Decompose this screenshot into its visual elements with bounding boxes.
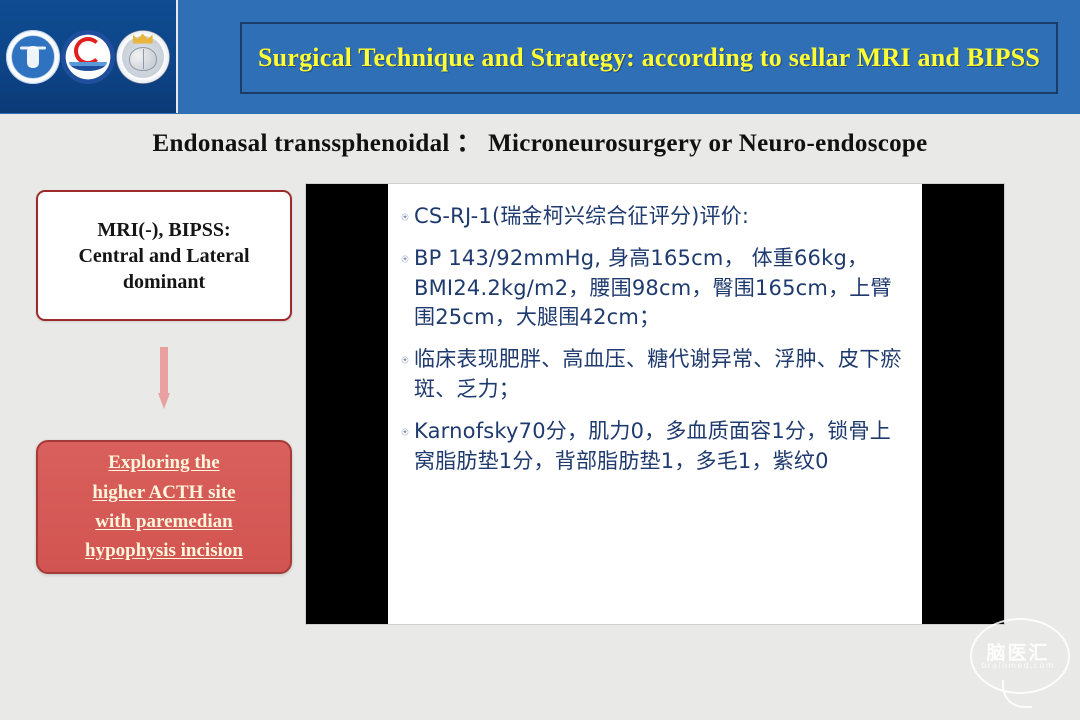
action-line-4: hypophysis incision bbox=[85, 536, 243, 565]
action-box: Exploring the higher ACTH site with pare… bbox=[36, 440, 292, 574]
arrow-shaft bbox=[160, 347, 168, 395]
brain-shape bbox=[129, 47, 157, 71]
action-line-1: Exploring the bbox=[85, 448, 243, 477]
bullet-text: 临床表现肥胖、高血压、糖代谢异常、浮肿、皮下瘀斑、乏力； bbox=[414, 345, 912, 405]
list-item: ⍟ BP 143/92mmHg, 身高165cm， 体重66kg，BMI24.2… bbox=[396, 244, 912, 333]
list-item: ⍟ Karnofsky70分，肌力0，多血质面容1分，锁骨上窝脂肪垫1分，背部脂… bbox=[396, 417, 912, 477]
logo-panel bbox=[0, 0, 178, 113]
embedded-slide-content: ⍟ CS-RJ-1(瑞金柯兴综合征评分)评价: ⍟ BP 143/92mmHg,… bbox=[388, 184, 922, 624]
bullet-marker-icon: ⍟ bbox=[396, 354, 414, 366]
action-box-text: Exploring the higher ACTH site with pare… bbox=[85, 448, 243, 566]
brain-crown-seal-icon bbox=[116, 30, 170, 84]
watermark-main-text: 脑医汇 bbox=[966, 638, 1070, 665]
finding-line-1: MRI(-), BIPSS: bbox=[78, 217, 249, 243]
crown-shape bbox=[133, 34, 153, 44]
list-item: ⍟ 临床表现肥胖、高血压、糖代谢异常、浮肿、皮下瘀斑、乏力； bbox=[396, 345, 912, 405]
bullet-text: Karnofsky70分，肌力0，多血质面容1分，锁骨上窝脂肪垫1分，背部脂肪垫… bbox=[414, 417, 912, 477]
wave-shape bbox=[69, 62, 107, 71]
embedded-slide-panel: ⍟ CS-RJ-1(瑞金柯兴综合征评分)评价: ⍟ BP 143/92mmHg,… bbox=[306, 184, 1004, 624]
bullet-list: ⍟ CS-RJ-1(瑞金柯兴综合征评分)评价: ⍟ BP 143/92mmHg,… bbox=[396, 202, 912, 477]
bullet-marker-icon: ⍟ bbox=[396, 253, 414, 265]
finding-line-2: Central and Lateral bbox=[78, 243, 249, 269]
bullet-text: BP 143/92mmHg, 身高165cm， 体重66kg，BMI24.2kg… bbox=[414, 244, 912, 333]
ruijin-hospital-seal-icon bbox=[6, 30, 60, 84]
arrow-head bbox=[158, 393, 170, 409]
down-arrow-icon bbox=[157, 347, 171, 411]
speech-bubble-tail bbox=[1002, 680, 1032, 708]
speech-bubble-icon bbox=[970, 618, 1070, 694]
seal-ring bbox=[11, 35, 55, 79]
finding-line-3: dominant bbox=[78, 269, 249, 295]
list-item: ⍟ CS-RJ-1(瑞金柯兴综合征评分)评价: bbox=[396, 202, 912, 232]
finding-box: MRI(-), BIPSS: Central and Lateral domin… bbox=[36, 190, 292, 321]
bullet-text: CS-RJ-1(瑞金柯兴综合征评分)评价: bbox=[414, 202, 912, 232]
letter-c-shape bbox=[74, 37, 102, 65]
slide-header: Surgical Technique and Strategy: accordi… bbox=[0, 0, 1080, 114]
title-box: Surgical Technique and Strategy: accordi… bbox=[240, 22, 1058, 94]
subtitle: Endonasal transsphenoidal ： Microneurosu… bbox=[0, 123, 1080, 159]
page-title: Surgical Technique and Strategy: accordi… bbox=[258, 43, 1040, 73]
action-line-2: higher ACTH site bbox=[85, 478, 243, 507]
watermark-sub-text: brainmed.com bbox=[966, 661, 1070, 670]
action-line-3: with paremedian bbox=[85, 507, 243, 536]
finding-box-text: MRI(-), BIPSS: Central and Lateral domin… bbox=[78, 217, 249, 295]
watermark: 脑医汇 brainmed.com bbox=[966, 614, 1072, 714]
bullet-marker-icon: ⍟ bbox=[396, 426, 414, 438]
shanghai-center-seal-icon bbox=[61, 30, 115, 84]
bullet-marker-icon: ⍟ bbox=[396, 211, 414, 223]
